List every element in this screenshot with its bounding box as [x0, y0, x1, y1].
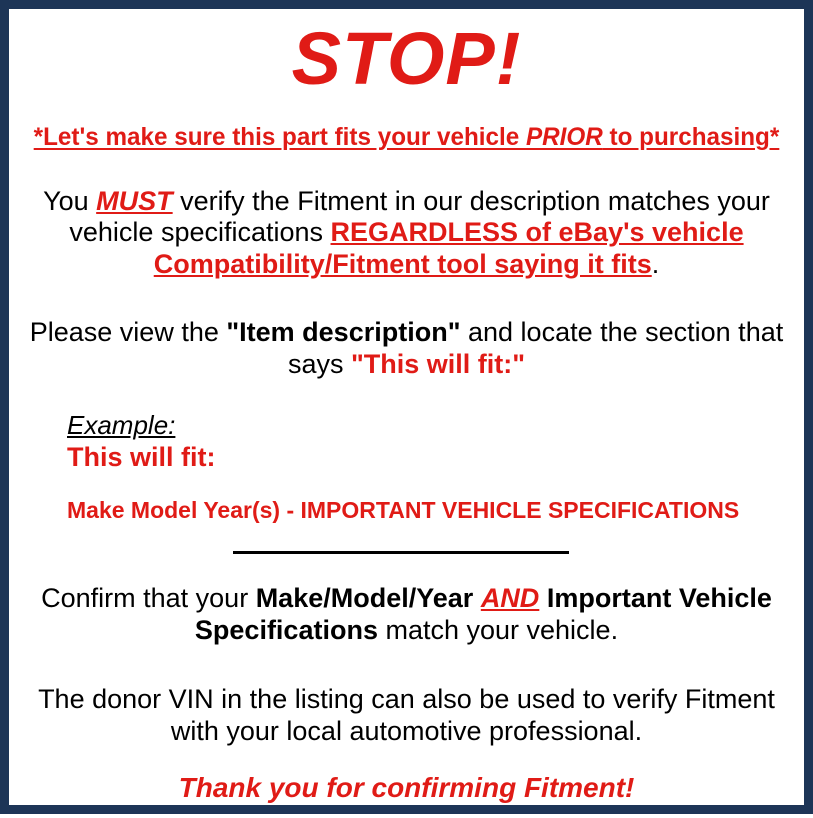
page-title: STOP!	[21, 22, 792, 96]
example-block: Example: This will fit: Make Model Year(…	[21, 411, 792, 524]
quote-this-will-fit: "This will fit:"	[351, 349, 525, 379]
divider-wrapper	[21, 551, 792, 554]
paragraph3-seg2: match your vehicle.	[378, 615, 618, 645]
paragraph1-seg3: .	[652, 249, 660, 279]
paragraph3-space2	[539, 583, 547, 613]
example-spec-line: Make Model Year(s) - IMPORTANT VEHICLE S…	[67, 497, 792, 523]
notice-content: STOP! *Let's make sure this part fits yo…	[9, 22, 804, 818]
tagline: *Let's make sure this part fits your veh…	[33, 124, 781, 152]
example-label: Example:	[67, 411, 175, 440]
paragraph1-seg1: You	[43, 186, 96, 216]
paragraph3-seg1: Confirm that your	[41, 583, 256, 613]
paragraph3-space1	[473, 583, 481, 613]
thank-you-message: Thank you for confirming Fitment!	[21, 772, 792, 804]
paragraph2-seg1: Please view the	[30, 317, 227, 347]
example-fit-heading: This will fit:	[67, 442, 792, 473]
emphasis-must: MUST	[96, 186, 173, 216]
example-label-row: Example:	[67, 411, 792, 440]
emphasis-make-model-year: Make/Model/Year	[256, 583, 474, 613]
quote-item-description: "Item description"	[226, 317, 460, 347]
paragraph-verify-fitment: You MUST verify the Fitment in our descr…	[21, 186, 792, 282]
horizontal-divider	[233, 551, 569, 554]
tagline-emphasis-prior: PRIOR	[526, 123, 603, 151]
paragraph-confirm-match: Confirm that your Make/Model/Year AND Im…	[21, 583, 792, 647]
paragraph-donor-vin: The donor VIN in the listing can also be…	[21, 684, 792, 748]
tagline-part1: *Let's make sure this part fits your veh…	[34, 123, 526, 151]
emphasis-and: AND	[481, 583, 540, 613]
paragraph-item-description: Please view the "Item description" and l…	[21, 317, 792, 381]
tagline-part2: to purchasing*	[603, 123, 780, 151]
fitment-notice-panel: STOP! *Let's make sure this part fits yo…	[0, 0, 813, 814]
